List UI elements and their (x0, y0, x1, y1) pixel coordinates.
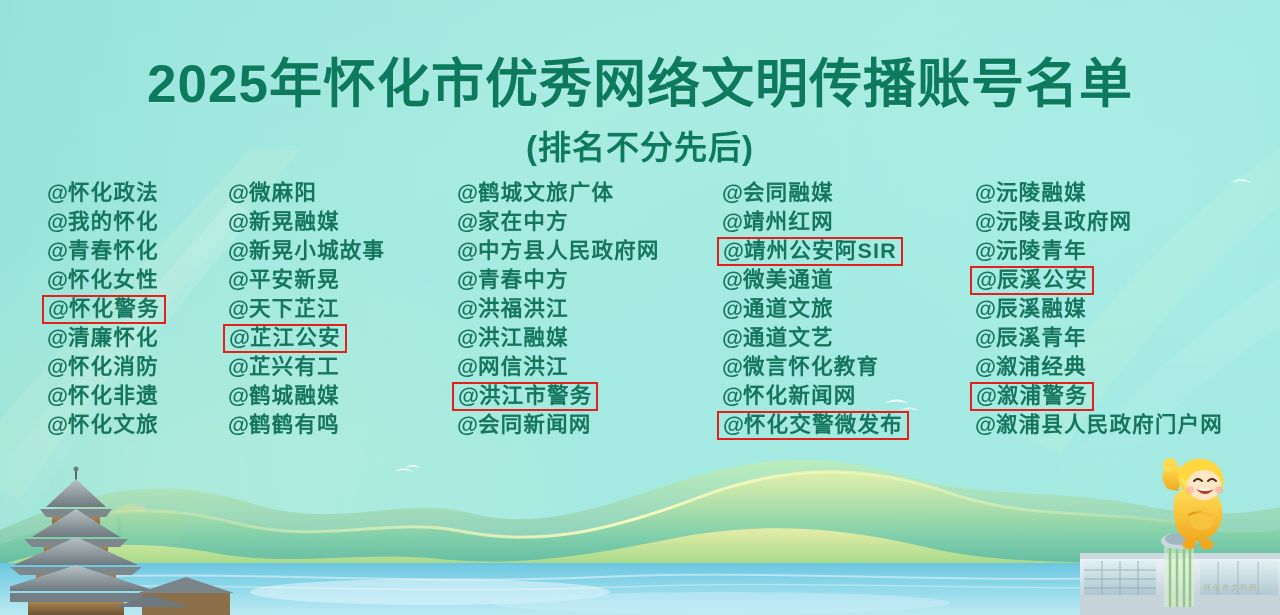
list-row: @鹤城文旅广体 (457, 179, 660, 208)
account-name: 怀化警务 (69, 297, 160, 321)
account-entry[interactable]: @靖州红网 (722, 208, 909, 237)
list-row: @会同新闻网 (457, 411, 660, 440)
at-symbol-icon: @ (47, 413, 68, 437)
list-row: @怀化交警微发布 (722, 411, 909, 440)
list-row: @新晃小城故事 (228, 237, 385, 266)
account-name: 辰溪公安 (997, 268, 1088, 292)
account-name: 家在中方 (478, 210, 569, 234)
account-name: 新晃融媒 (249, 210, 340, 234)
column-3: @鹤城文旅广体@家在中方@中方县人民政府网@青春中方@洪福洪江@洪江融媒@网信洪… (457, 179, 660, 440)
account-name: 沅陵融媒 (996, 181, 1087, 205)
at-symbol-icon: @ (722, 297, 743, 321)
account-entry[interactable]: @芷兴有工 (228, 353, 385, 382)
account-name: 平安新晃 (249, 268, 340, 292)
account-name: 芷江公安 (250, 326, 341, 350)
list-row: @通道文旅 (722, 295, 909, 324)
list-row: @中方县人民政府网 (457, 237, 660, 266)
list-row: @网信洪江 (457, 353, 660, 382)
account-entry[interactable]: @鹤城融媒 (228, 382, 385, 411)
account-name: 中方县人民政府网 (478, 239, 660, 263)
at-symbol-icon: @ (457, 413, 478, 437)
at-symbol-icon: @ (975, 210, 996, 234)
list-row: @微言怀化教育 (722, 353, 909, 382)
account-name: 溆浦警务 (997, 384, 1088, 408)
list-row: @我的怀化 (47, 208, 166, 237)
account-name: 怀化消防 (68, 355, 159, 379)
account-entry[interactable]: @辰溪青年 (975, 324, 1223, 353)
account-name: 网信洪江 (478, 355, 569, 379)
at-symbol-icon: @ (722, 355, 743, 379)
account-entry[interactable]: @鹤城文旅广体 (457, 179, 660, 208)
list-row: @怀化非遗 (47, 382, 166, 411)
account-entry-highlighted[interactable]: @芷江公安 (223, 324, 347, 353)
at-symbol-icon: @ (722, 210, 743, 234)
account-name: 怀化政法 (68, 181, 159, 205)
account-name: 鹤城融媒 (249, 384, 340, 408)
account-entry[interactable]: @怀化女性 (47, 266, 166, 295)
list-row: @沅陵融媒 (975, 179, 1223, 208)
account-entry-highlighted[interactable]: @怀化交警微发布 (717, 411, 909, 440)
list-row: @会同融媒 (722, 179, 909, 208)
column-1: @怀化政法@我的怀化@青春怀化@怀化女性@怀化警务@清廉怀化@怀化消防@怀化非遗… (47, 179, 166, 440)
drum-tower-illustration (10, 465, 250, 615)
account-entry[interactable]: @微麻阳 (228, 179, 385, 208)
account-entry[interactable]: @辰溪融媒 (975, 295, 1223, 324)
account-entry[interactable]: @会同新闻网 (457, 411, 660, 440)
list-row: @溆浦经典 (975, 353, 1223, 382)
account-entry[interactable]: @家在中方 (457, 208, 660, 237)
list-row: @家在中方 (457, 208, 660, 237)
account-name: 芷兴有工 (249, 355, 340, 379)
account-entry[interactable]: @青春中方 (457, 266, 660, 295)
account-entry[interactable]: @沅陵青年 (975, 237, 1223, 266)
at-symbol-icon: @ (47, 239, 68, 263)
account-name: 怀化交警微发布 (744, 413, 903, 437)
account-entry-highlighted[interactable]: @洪江市警务 (452, 382, 598, 411)
page-subtitle: (排名不分先后) (0, 111, 1280, 169)
column-2: @微麻阳@新晃融媒@新晃小城故事@平安新晃@天下芷江@芷江公安@芷兴有工@鹤城融… (228, 179, 385, 440)
at-symbol-icon: @ (722, 384, 743, 408)
account-name: 青春中方 (478, 268, 569, 292)
account-entry[interactable]: @洪江融媒 (457, 324, 660, 353)
at-symbol-icon: @ (457, 355, 478, 379)
list-row: @微麻阳 (228, 179, 385, 208)
account-name: 怀化女性 (68, 268, 159, 292)
at-symbol-icon: @ (457, 297, 478, 321)
at-symbol-icon: @ (47, 268, 68, 292)
account-entry[interactable]: @怀化新闻网 (722, 382, 909, 411)
list-row: @怀化消防 (47, 353, 166, 382)
account-entry-highlighted[interactable]: @怀化警务 (42, 295, 166, 324)
account-entry[interactable]: @怀化非遗 (47, 382, 166, 411)
account-name: 鹤城文旅广体 (478, 181, 614, 205)
list-row: @怀化文旅 (47, 411, 166, 440)
account-name: 通道文艺 (743, 326, 834, 350)
account-entry[interactable]: @中方县人民政府网 (457, 237, 660, 266)
at-symbol-icon: @ (228, 297, 249, 321)
at-symbol-icon: @ (228, 210, 249, 234)
list-row: @鹤鹤有鸣 (228, 411, 385, 440)
at-symbol-icon: @ (457, 210, 478, 234)
at-symbol-icon: @ (723, 413, 744, 437)
at-symbol-icon: @ (723, 239, 744, 263)
account-entry[interactable]: @微言怀化教育 (722, 353, 909, 382)
list-row: @怀化政法 (47, 179, 166, 208)
account-name: 溆浦县人民政府门户网 (996, 413, 1223, 437)
account-name: 溆浦经典 (996, 355, 1087, 379)
account-name: 鹤鹤有鸣 (249, 413, 340, 437)
account-entry[interactable]: @青春怀化 (47, 237, 166, 266)
at-symbol-icon: @ (48, 297, 69, 321)
account-list: @怀化政法@我的怀化@青春怀化@怀化女性@怀化警务@清廉怀化@怀化消防@怀化非遗… (0, 179, 1280, 464)
at-symbol-icon: @ (722, 181, 743, 205)
account-name: 辰溪融媒 (996, 297, 1087, 321)
account-name: 新晃小城故事 (249, 239, 385, 263)
list-row: @辰溪公安 (975, 266, 1223, 295)
at-symbol-icon: @ (457, 268, 478, 292)
list-row: @洪福洪江 (457, 295, 660, 324)
at-symbol-icon: @ (47, 210, 68, 234)
account-name: 靖州红网 (743, 210, 834, 234)
account-entry[interactable]: @微美通道 (722, 266, 909, 295)
account-name: 沅陵青年 (996, 239, 1087, 263)
at-symbol-icon: @ (47, 384, 68, 408)
at-symbol-icon: @ (975, 239, 996, 263)
list-row: @沅陵青年 (975, 237, 1223, 266)
account-entry[interactable]: @网信洪江 (457, 353, 660, 382)
account-entry[interactable]: @怀化消防 (47, 353, 166, 382)
at-symbol-icon: @ (722, 326, 743, 350)
account-name: 怀化非遗 (68, 384, 159, 408)
list-row: @鹤城融媒 (228, 382, 385, 411)
at-symbol-icon: @ (975, 413, 996, 437)
at-symbol-icon: @ (228, 413, 249, 437)
column-4: @会同融媒@靖州红网@靖州公安阿SIR@微美通道@通道文旅@通道文艺@微言怀化教… (722, 179, 909, 440)
account-entry[interactable]: @鹤鹤有鸣 (228, 411, 385, 440)
at-symbol-icon: @ (47, 355, 68, 379)
list-row: @靖州公安阿SIR (722, 237, 909, 266)
page-title: 2025年怀化市优秀网络文明传播账号名单 (0, 0, 1280, 111)
poster-canvas: 2025年怀化市优秀网络文明传播账号名单 (排名不分先后) @怀化政法@我的怀化… (0, 0, 1280, 615)
at-symbol-icon: @ (976, 268, 997, 292)
account-entry[interactable]: @怀化文旅 (47, 411, 166, 440)
at-symbol-icon: @ (457, 239, 478, 263)
at-symbol-icon: @ (976, 384, 997, 408)
account-entry[interactable]: @通道文旅 (722, 295, 909, 324)
list-row: @洪江融媒 (457, 324, 660, 353)
account-entry[interactable]: @新晃小城故事 (228, 237, 385, 266)
account-entry[interactable]: @我的怀化 (47, 208, 166, 237)
at-symbol-icon: @ (457, 181, 478, 205)
list-row: @靖州红网 (722, 208, 909, 237)
account-entry[interactable]: @溆浦经典 (975, 353, 1223, 382)
list-row: @新晃融媒 (228, 208, 385, 237)
account-entry[interactable]: @新晃融媒 (228, 208, 385, 237)
account-name: 会同新闻网 (478, 413, 592, 437)
at-symbol-icon: @ (975, 326, 996, 350)
account-entry-highlighted[interactable]: @辰溪公安 (970, 266, 1094, 295)
account-name: 靖州公安阿SIR (744, 239, 897, 263)
account-entry[interactable]: @沅陵融媒 (975, 179, 1223, 208)
list-row: @芷江公安 (228, 324, 385, 353)
account-name: 会同融媒 (743, 181, 834, 205)
account-name: 天下芷江 (249, 297, 340, 321)
list-row: @通道文艺 (722, 324, 909, 353)
account-name: 怀化文旅 (68, 413, 159, 437)
poster-header: 2025年怀化市优秀网络文明传播账号名单 (排名不分先后) (0, 0, 1280, 169)
account-entry[interactable]: @清廉怀化 (47, 324, 166, 353)
account-entry-highlighted[interactable]: @溆浦警务 (970, 382, 1094, 411)
account-entry[interactable]: @会同融媒 (722, 179, 909, 208)
column-5: @沅陵融媒@沅陵县政府网@沅陵青年@辰溪公安@辰溪融媒@辰溪青年@溆浦经典@溆浦… (975, 179, 1223, 440)
account-name: 通道文旅 (743, 297, 834, 321)
account-name: 洪江融媒 (478, 326, 569, 350)
account-entry[interactable]: @溆浦县人民政府门户网 (975, 411, 1223, 440)
list-row: @洪江市警务 (457, 382, 660, 411)
account-name: 青春怀化 (68, 239, 159, 263)
at-symbol-icon: @ (722, 268, 743, 292)
account-entry[interactable]: @怀化政法 (47, 179, 166, 208)
at-symbol-icon: @ (975, 181, 996, 205)
at-symbol-icon: @ (228, 384, 249, 408)
at-symbol-icon: @ (47, 326, 68, 350)
account-name: 我的怀化 (68, 210, 159, 234)
at-symbol-icon: @ (457, 326, 478, 350)
account-entry[interactable]: @洪福洪江 (457, 295, 660, 324)
list-row: @天下芷江 (228, 295, 385, 324)
account-name: 洪江市警务 (479, 384, 593, 408)
list-row: @芷兴有工 (228, 353, 385, 382)
list-row: @怀化警务 (47, 295, 166, 324)
account-name: 微言怀化教育 (743, 355, 879, 379)
account-entry[interactable]: @平安新晃 (228, 266, 385, 295)
list-row: @怀化新闻网 (722, 382, 909, 411)
account-entry[interactable]: @沅陵县政府网 (975, 208, 1223, 237)
account-name: 洪福洪江 (478, 297, 569, 321)
at-symbol-icon: @ (458, 384, 479, 408)
list-row: @沅陵县政府网 (975, 208, 1223, 237)
list-row: @青春怀化 (47, 237, 166, 266)
at-symbol-icon: @ (229, 326, 250, 350)
account-name: 微麻阳 (249, 181, 317, 205)
list-row: @溆浦县人民政府门户网 (975, 411, 1223, 440)
yellow-child-mascot (1144, 449, 1236, 553)
account-name: 沅陵县政府网 (996, 210, 1132, 234)
at-symbol-icon: @ (228, 268, 249, 292)
account-name: 怀化新闻网 (743, 384, 857, 408)
list-row: @微美通道 (722, 266, 909, 295)
account-name: 辰溪青年 (996, 326, 1087, 350)
account-entry[interactable]: @通道文艺 (722, 324, 909, 353)
account-entry-highlighted[interactable]: @靖州公安阿SIR (717, 237, 903, 266)
at-symbol-icon: @ (228, 181, 249, 205)
list-row: @青春中方 (457, 266, 660, 295)
list-row: @溆浦警务 (975, 382, 1223, 411)
at-symbol-icon: @ (975, 355, 996, 379)
at-symbol-icon: @ (975, 297, 996, 321)
watermark-text: 怀化市文明网 (1204, 583, 1258, 593)
list-row: @清廉怀化 (47, 324, 166, 353)
list-row: @辰溪融媒 (975, 295, 1223, 324)
list-row: @辰溪青年 (975, 324, 1223, 353)
at-symbol-icon: @ (47, 181, 68, 205)
account-entry[interactable]: @天下芷江 (228, 295, 385, 324)
account-name: 清廉怀化 (68, 326, 159, 350)
account-name: 微美通道 (743, 268, 834, 292)
at-symbol-icon: @ (228, 355, 249, 379)
at-symbol-icon: @ (228, 239, 249, 263)
list-row: @平安新晃 (228, 266, 385, 295)
list-row: @怀化女性 (47, 266, 166, 295)
